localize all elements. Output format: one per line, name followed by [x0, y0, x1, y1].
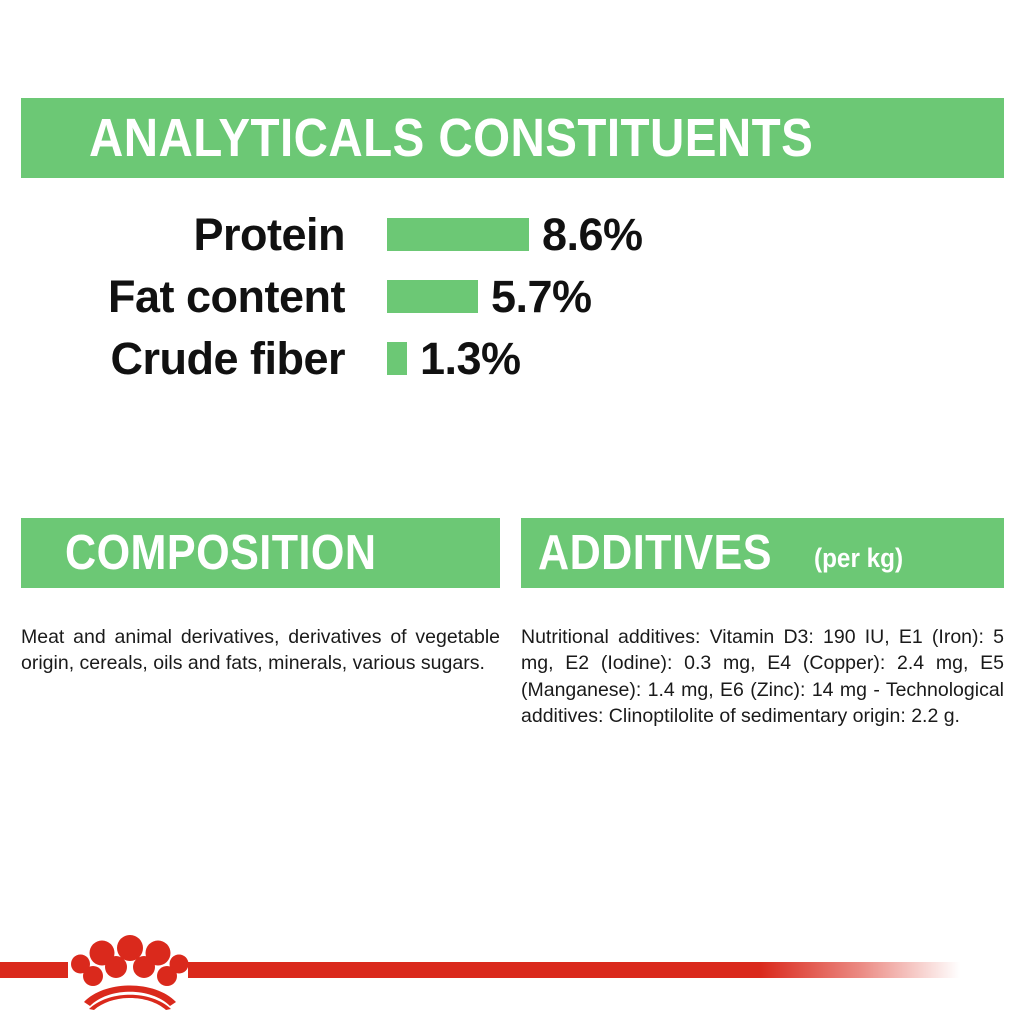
analyticals-title: ANALYTICALS CONSTITUENTS: [89, 111, 813, 165]
nutrient-value-protein: 8.6%: [542, 212, 643, 257]
composition-section-header: COMPOSITION: [21, 518, 500, 588]
nutrient-row: Fat content 5.7%: [0, 265, 1024, 327]
nutrient-bar-fat-content: [387, 280, 478, 313]
nutrient-label-fat-content: Fat content: [0, 274, 345, 319]
footer-rule-right: [188, 962, 960, 978]
nutrient-bar-protein: [387, 218, 529, 251]
nutrient-bar-group-crude-fiber: 1.3%: [387, 327, 521, 389]
composition-title: COMPOSITION: [65, 529, 376, 578]
nutrient-bar-group-protein: 8.6%: [387, 203, 643, 265]
nutrient-label-crude-fiber: Crude fiber: [0, 336, 345, 381]
nutrient-value-crude-fiber: 1.3%: [420, 336, 521, 381]
nutrient-value-fat-content: 5.7%: [491, 274, 592, 319]
nutrient-bar-group-fat-content: 5.7%: [387, 265, 592, 327]
nutrition-panel: ANALYTICALS CONSTITUENTS Protein 8.6% Fa…: [0, 0, 1024, 1024]
footer-rule-left: [0, 962, 68, 978]
additives-body-text: Nutritional additives: Vitamin D3: 190 I…: [521, 624, 1004, 730]
brand-footer: [0, 930, 1024, 1024]
additives-section-header: ADDITIVES (per kg): [521, 518, 1004, 588]
royal-canin-crown-icon: [71, 930, 189, 1010]
nutrient-row: Crude fiber 1.3%: [0, 327, 1024, 389]
analyticals-rows: Protein 8.6% Fat content 5.7% Crude fibe…: [0, 203, 1024, 389]
additives-title: ADDITIVES: [538, 529, 772, 578]
nutrient-bar-crude-fiber: [387, 342, 407, 375]
additives-per-kg-label: (per kg): [814, 545, 903, 572]
analyticals-section-header: ANALYTICALS CONSTITUENTS: [21, 98, 1004, 178]
composition-body-text: Meat and animal derivatives, derivatives…: [21, 624, 500, 677]
nutrient-label-protein: Protein: [0, 212, 345, 257]
nutrient-row: Protein 8.6%: [0, 203, 1024, 265]
